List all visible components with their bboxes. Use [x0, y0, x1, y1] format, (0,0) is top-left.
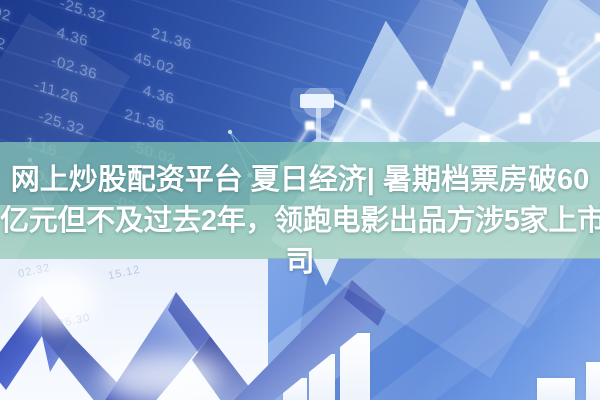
ticker-value: -50.02: [0, 0, 13, 32]
headline-line-2: 亿元但不及过去2年，领跑电影出品方涉5家上市公司: [0, 201, 600, 242]
headline-line-1: 网上炒股配资平台 夏日经济| 暑期档票房破60: [0, 160, 600, 201]
glow-blob: [100, 352, 220, 400]
thumbnail-canvas: -50.02 -11.26 -25.32 21.36 -02.36 -50.02…: [0, 0, 600, 400]
bar-5: [586, 362, 600, 400]
bar-4: [537, 378, 575, 400]
headline-line-3: 司: [0, 242, 600, 283]
headline-text: 网上炒股配资平台 夏日经济| 暑期档票房破60 亿元但不及过去2年，领跑电影出品…: [0, 160, 600, 283]
